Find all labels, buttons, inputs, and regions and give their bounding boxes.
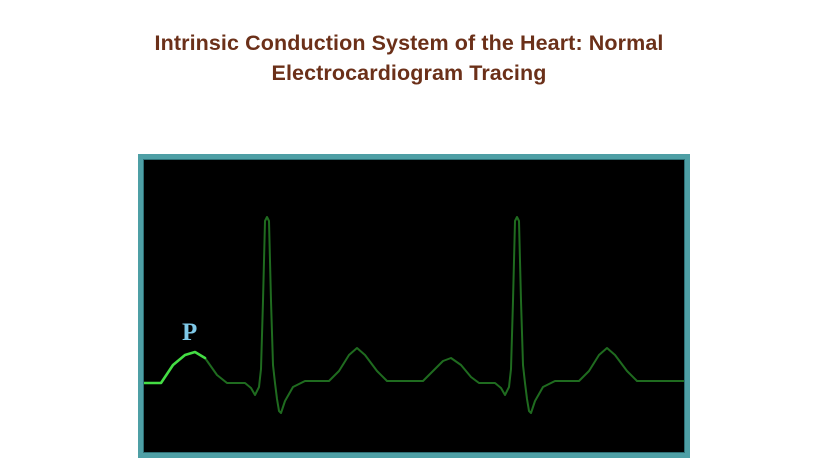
ecg-waveform — [143, 159, 685, 453]
p-wave-label: P — [182, 320, 197, 345]
ecg-tracing-panel — [138, 154, 690, 458]
page-title: Intrinsic Conduction System of the Heart… — [0, 28, 818, 88]
page-title-line-1: Intrinsic Conduction System of the Heart… — [0, 28, 818, 58]
ecg-p-wave-highlight — [143, 352, 205, 383]
page-title-line-2: Electrocardiogram Tracing — [0, 58, 818, 88]
ecg-trace-line — [143, 217, 685, 413]
